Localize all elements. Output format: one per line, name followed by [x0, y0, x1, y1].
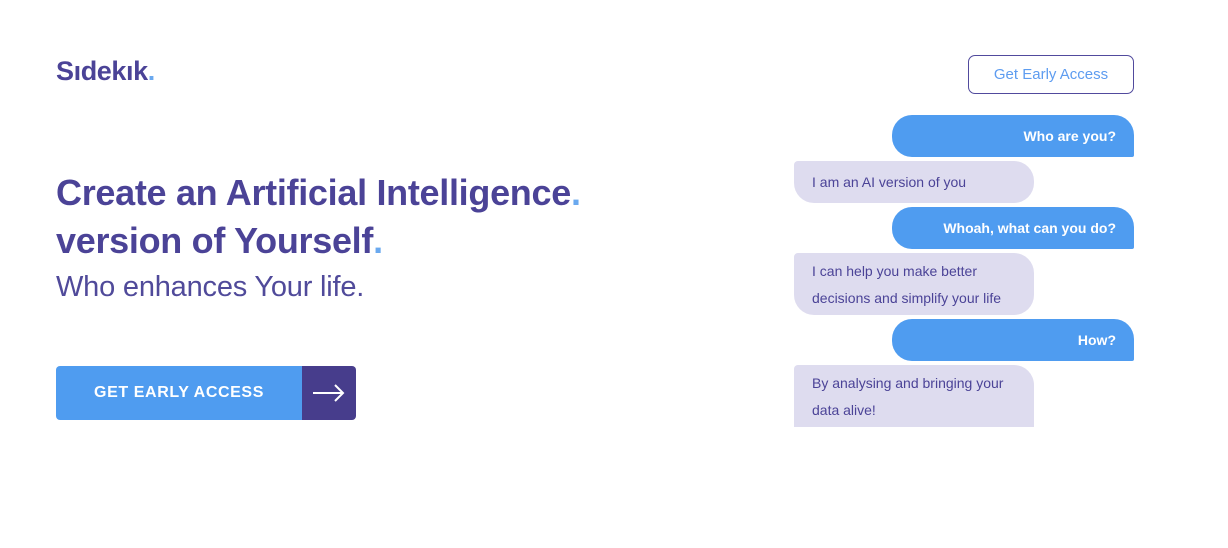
chat-line: data alive! [812, 402, 876, 418]
hero-headline-dot2: . [373, 220, 383, 261]
hero-headline-line1: Create an Artificial Intelligence [56, 172, 571, 213]
chat-line: By analysing and bringing your [812, 375, 1003, 391]
chat-transcript: Who are you? I am an AI version of you W… [794, 115, 1134, 463]
chat-line: decisions and simplify your life [812, 290, 1001, 306]
chat-row: Whoah, what can you do? [794, 207, 1134, 249]
chat-line: I can help you make better [812, 263, 977, 279]
hero-headline: Create an Artificial Intelligence. versi… [56, 169, 756, 265]
chat-line: How? [1078, 332, 1116, 348]
brand-logo[interactable]: Sıdekık. [56, 56, 155, 87]
hero-headline-dot1: . [571, 172, 581, 213]
arrow-right-icon [302, 366, 356, 420]
hero-get-early-access-button[interactable]: GET EARLY ACCESS [56, 366, 356, 420]
chat-row: Who are you? [794, 115, 1134, 157]
chat-bubble-user: Who are you? [892, 115, 1134, 157]
chat-row: By analysing and bringing your data aliv… [794, 365, 1134, 427]
nav-get-early-access-button[interactable]: Get Early Access [968, 55, 1134, 94]
chat-bubble-bot: I am an AI version of you [794, 161, 1034, 203]
chat-bubble-user: How? [892, 319, 1134, 361]
hero-subheadline: Who enhances Your life. [56, 271, 364, 304]
chat-bubble-bot: I can help you make better decisions and… [794, 253, 1034, 315]
chat-line: Who are you? [1023, 128, 1116, 144]
chat-line: I am an AI version of you [812, 174, 966, 190]
brand-logo-dot: . [148, 56, 155, 86]
chat-row: I am an AI version of you [794, 161, 1134, 203]
chat-line: Whoah, what can you do? [943, 220, 1116, 236]
hero-cta-label: GET EARLY ACCESS [56, 366, 302, 420]
chat-bubble-bot: By analysing and bringing your data aliv… [794, 365, 1034, 427]
brand-logo-text: Sıdekık [56, 56, 148, 86]
landing-page: Sıdekık. Get Early Access Create an Arti… [0, 0, 1228, 548]
chat-row: How? [794, 319, 1134, 361]
chat-row: I can help you make better decisions and… [794, 253, 1134, 315]
chat-bubble-user: Whoah, what can you do? [892, 207, 1134, 249]
hero-headline-line2: version of Yourself [56, 220, 373, 261]
